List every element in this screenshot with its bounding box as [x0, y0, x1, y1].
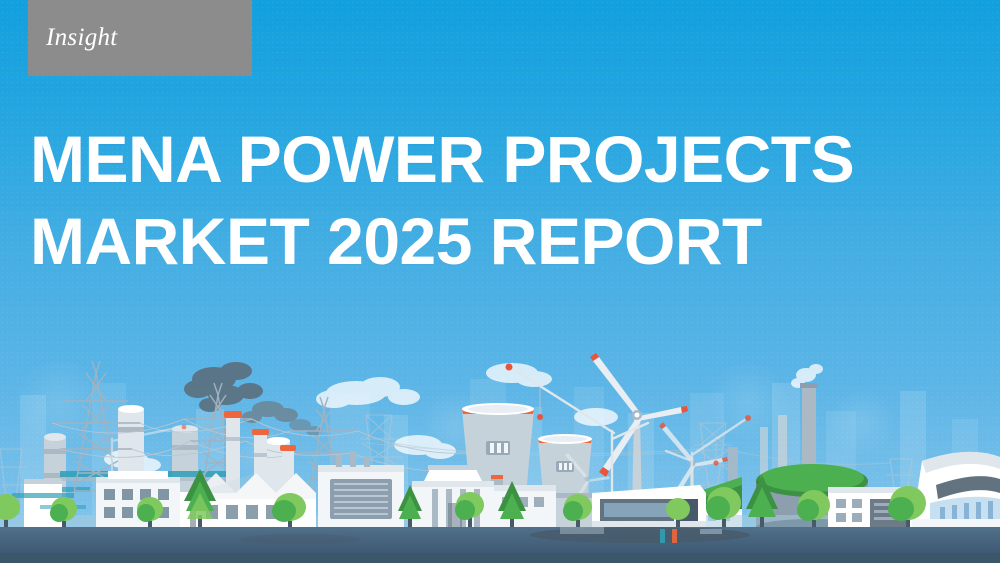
slide-canvas: Insight MENA POWER PROJECTS MARKET 2025 …: [0, 0, 1000, 563]
title-line-2: MARKET 2025 REPORT: [30, 200, 930, 282]
title-line-1: MENA POWER PROJECTS: [30, 118, 930, 200]
page-title: MENA POWER PROJECTS MARKET 2025 REPORT: [30, 118, 930, 282]
energy-infrastructure-illustration: [0, 353, 1000, 563]
insight-tag-label: Insight: [46, 24, 118, 52]
modern-glass-building: [912, 452, 1000, 527]
insight-tag: Insight: [28, 0, 252, 76]
illustration-svg: [0, 353, 1000, 563]
